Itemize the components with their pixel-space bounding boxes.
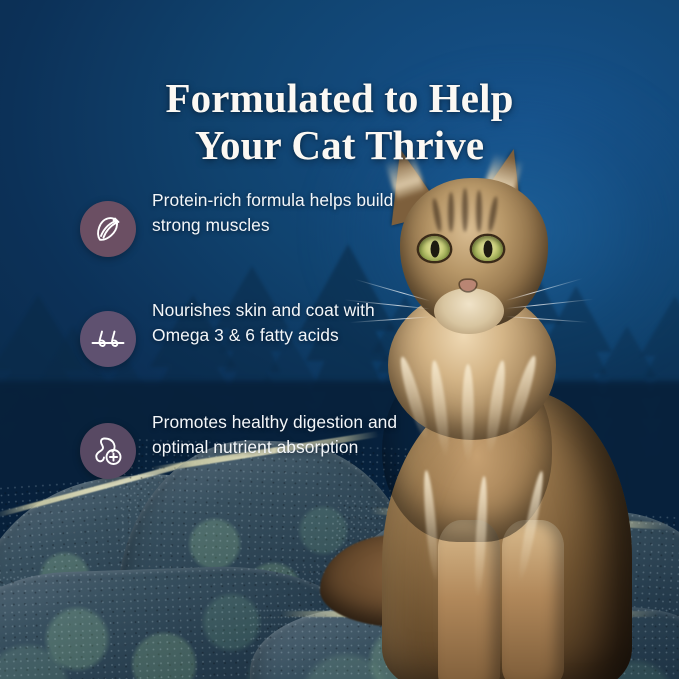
hair-follicle-icon [90, 324, 126, 354]
cat-forehead-stripe [462, 188, 468, 232]
cat-eye-left [419, 236, 450, 261]
muscle-fiber-icon [91, 212, 125, 246]
badge-stomach-plus [80, 423, 136, 479]
cat-eye-right [472, 236, 503, 261]
cat-pupil [430, 240, 439, 257]
cat-forehead-stripe [448, 192, 454, 232]
cat-foreleg [502, 520, 564, 679]
cat-forehead-stripe [476, 190, 482, 232]
feature-text-protein: Protein-rich formula helps build strong … [152, 186, 402, 239]
feature-list: Protein-rich formula helps build strong … [72, 186, 402, 512]
stomach-plus-icon [91, 434, 125, 468]
feature-item-omega: Nourishes skin and coat with Omega 3 & 6… [72, 296, 402, 400]
cat-muzzle [434, 288, 504, 334]
badge-muscle-fiber [80, 201, 136, 257]
feature-text-omega: Nourishes skin and coat with Omega 3 & 6… [152, 296, 402, 349]
feature-item-digestion: Promotes healthy digestion and optimal n… [72, 408, 402, 512]
page-title: Formulated to Help Your Cat Thrive [0, 75, 679, 168]
headline-line-1: Formulated to Help [166, 75, 514, 121]
badge-hair-follicle [80, 311, 136, 367]
cat-foreleg [438, 520, 500, 679]
feature-text-digestion: Promotes healthy digestion and optimal n… [152, 408, 402, 461]
feature-item-protein: Protein-rich formula helps build strong … [72, 186, 402, 290]
promo-infographic: Formulated to Help Your Cat Thrive Prote… [0, 0, 679, 679]
cat-pupil [483, 240, 492, 257]
fur-streak [462, 364, 474, 462]
headline-line-2: Your Cat Thrive [0, 122, 679, 168]
